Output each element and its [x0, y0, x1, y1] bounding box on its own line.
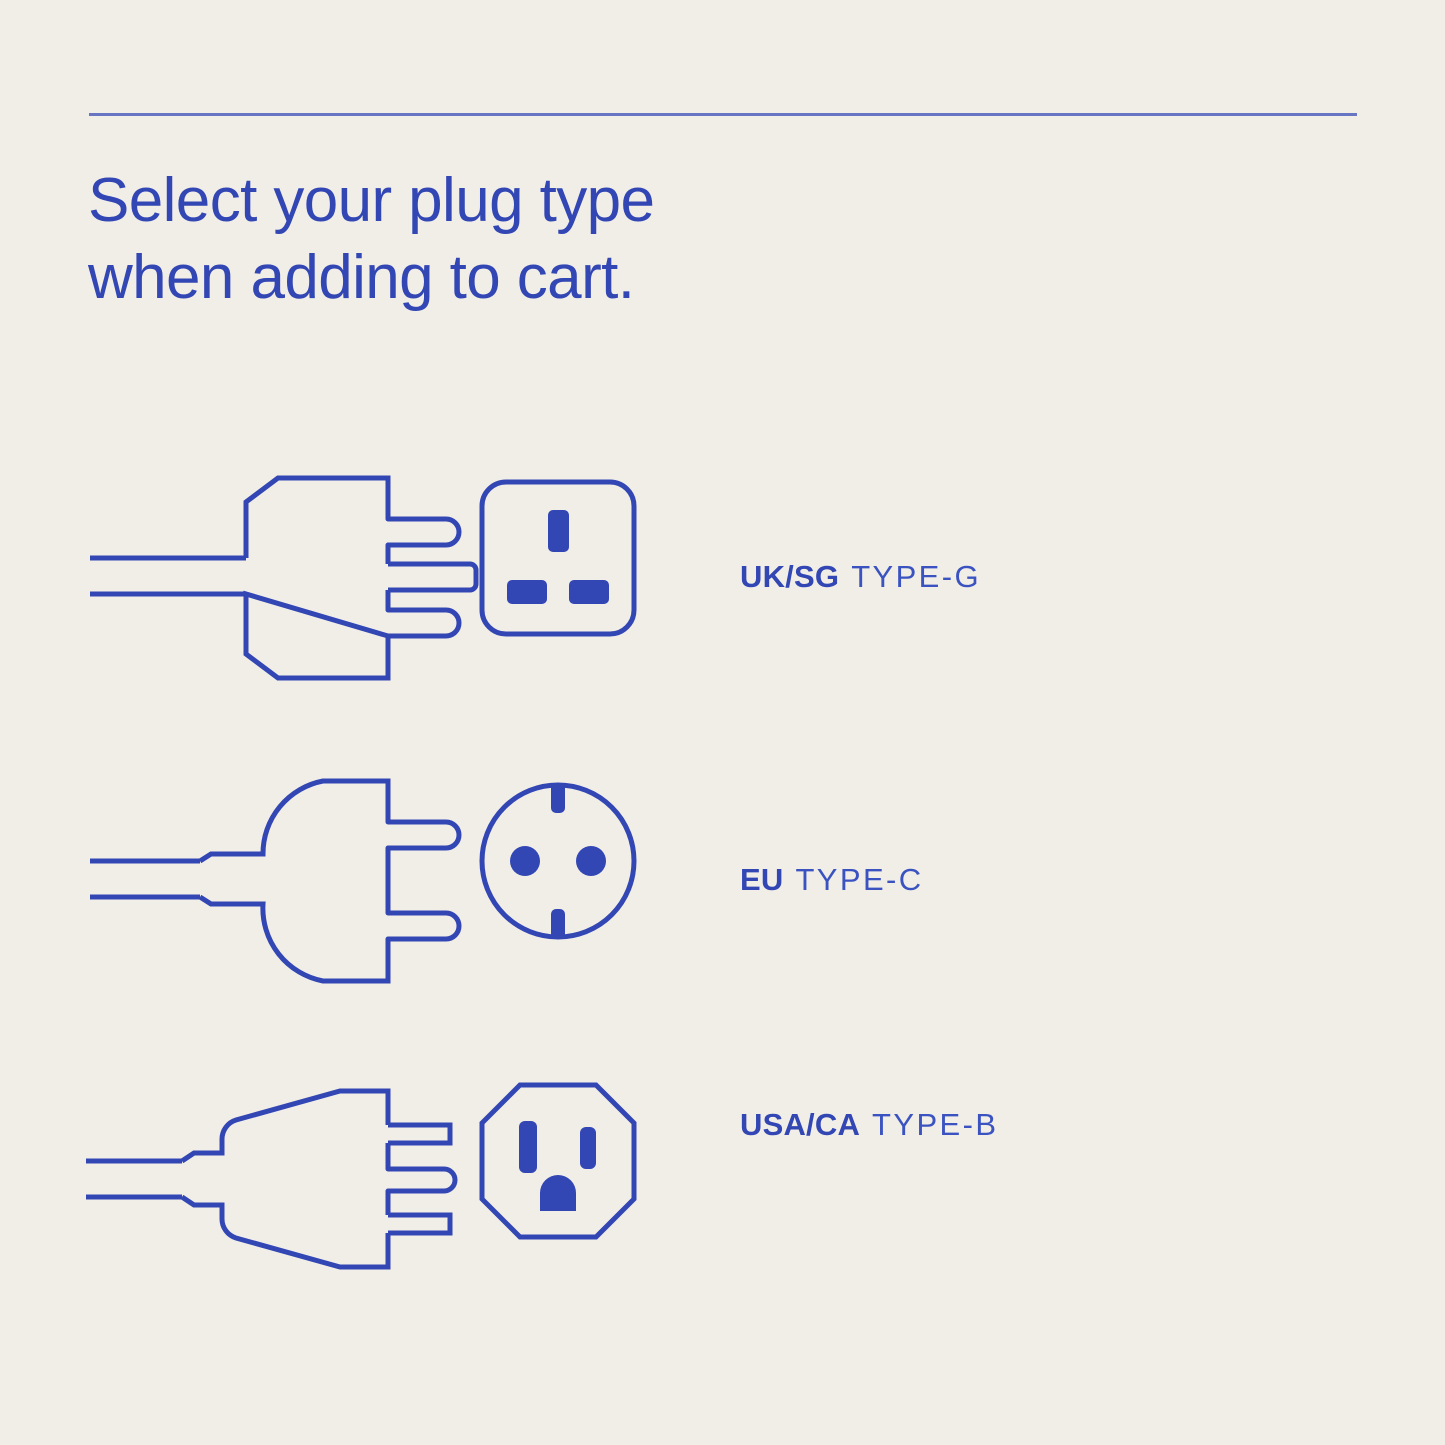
plug-type-info-card: Select your plug type when adding to car…: [0, 0, 1445, 1445]
uk-socket-icon: [468, 462, 648, 692]
eu-socket-icon: [468, 765, 648, 995]
plug-option-row-eu[interactable]: EU TYPE-C: [0, 765, 1445, 995]
plug-option-region-eu: EU: [740, 862, 783, 898]
plug-option-label-uk: UK/SG TYPE-G: [740, 462, 981, 692]
plug-option-region-usa: USA/CA: [740, 1107, 860, 1143]
plug-option-row-usa[interactable]: USA/CA TYPE-B: [0, 1065, 1445, 1295]
usa-plug-side-icon: [78, 1065, 408, 1295]
usa-socket-icon: [468, 1065, 648, 1295]
plug-option-row-uk[interactable]: UK/SG TYPE-G: [0, 462, 1445, 692]
plug-option-type-eu: TYPE-C: [795, 862, 923, 898]
plug-option-list: UK/SG TYPE-G: [0, 0, 1445, 1445]
plug-option-label-eu: EU TYPE-C: [740, 765, 924, 995]
eu-plug-side-icon: [78, 765, 408, 995]
plug-option-label-usa: USA/CA TYPE-B: [740, 1065, 998, 1337]
uk-plug-side-icon: [78, 462, 408, 692]
plug-option-type-uk: TYPE-G: [851, 559, 981, 595]
plug-option-type-usa: TYPE-B: [872, 1107, 998, 1143]
plug-option-region-uk: UK/SG: [740, 559, 839, 595]
